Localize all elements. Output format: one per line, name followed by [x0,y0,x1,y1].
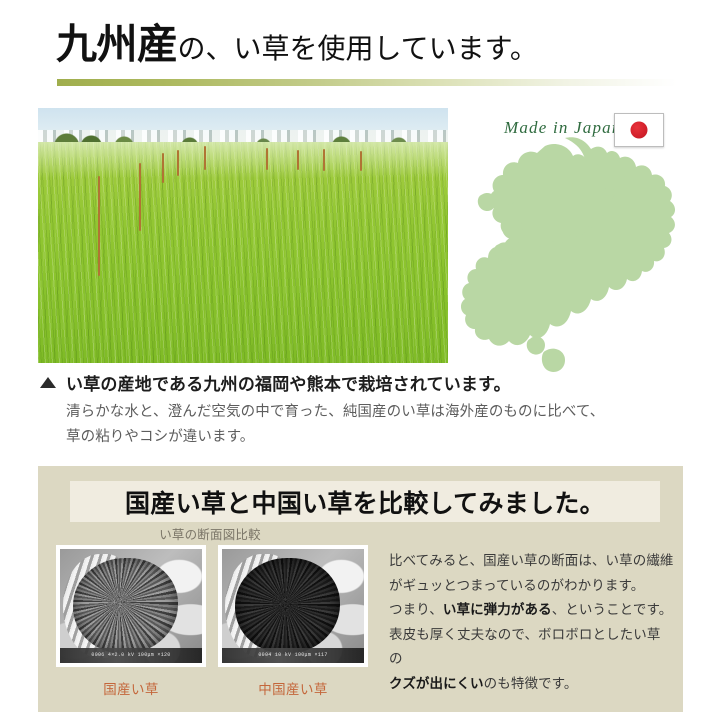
field-stake [177,150,179,176]
page-title-lead: 九州産 [56,21,178,67]
kyushu-map-icon [455,132,690,384]
micrograph-domestic-caption: 国産い草 [56,678,206,698]
line3-emphasis: い草に弾力がある [443,602,552,617]
field-stake [360,151,362,171]
field-stake [162,153,164,183]
comparison-body: 比べてみると、国産い草の断面は、い草の繊維 がギュッとつまっているのがわかります… [389,549,674,696]
page-title-rest: の、い草を使用しています。 [178,34,538,65]
photo-horizon-haze [38,142,448,178]
comparison-sublabel: い草の断面図比較 [60,524,360,543]
micrograph-domestic-image: 0006 4×2.0 kV 100μm ×120 [60,549,202,663]
micrograph-chinese-caption: 中国産い草 [218,678,368,698]
comparison-body-line-1: 比べてみると、国産い草の断面は、い草の繊維 [389,549,674,574]
micrograph-core [73,558,178,654]
page-title: 九州産の、い草を使用しています。 [56,24,538,65]
line5-post: のも特徴です。 [484,676,578,691]
micrograph-scalebar: 0006 4×2.0 kV 100μm ×120 [60,648,202,663]
field-stake [98,176,100,276]
igusa-field-photo [38,108,448,363]
line5-emphasis: クズが出にくい [389,676,484,691]
caption-body-line-2: 草の粘りやコシが違います。 [66,425,651,450]
comparison-body-line-4: 表皮も厚く丈夫なので、ボロボロとしたい草の [389,623,674,672]
micrograph-domestic: 0006 4×2.0 kV 100μm ×120 [56,545,206,667]
micrograph-scalebar: 0004 10 kV 100μm ×117 [222,648,364,663]
comparison-body-line-3: つまり、い草に弾力がある、ということです。 [389,598,674,623]
caption-body: 清らかな水と、澄んだ空気の中で育った、純国産のい草は海外産のものに比べて、 草の… [66,400,651,450]
caption-body-line-1: 清らかな水と、澄んだ空気の中で育った、純国産のい草は海外産のものに比べて、 [66,400,651,425]
product-description-page: 九州産の、い草を使用しています。 Made in Japan [0,0,720,720]
micrograph-core [235,558,340,654]
line3-post: 、ということです。 [552,602,673,617]
comparison-body-line-5: クズが出にくいのも特徴です。 [389,672,674,697]
field-stake [266,148,268,170]
caption-triangle-icon [40,377,56,388]
micrograph-chinese: 0004 10 kV 100μm ×117 [218,545,368,667]
title-underline-gradient [57,79,677,86]
field-stake [139,163,141,231]
comparison-heading: 国産い草と中国い草を比較してみました。 [70,481,660,522]
micrograph-chinese-image: 0004 10 kV 100μm ×117 [222,549,364,663]
field-stake [297,150,299,170]
comparison-body-line-2: がギュッとつまっているのがわかります。 [389,574,674,599]
field-stake [204,146,206,170]
caption-headline: い草の産地である九州の福岡や熊本で栽培されています。 [66,370,511,395]
line3-pre: つまり、 [389,602,443,617]
comparison-heading-band: 国産い草と中国い草を比較してみました。 [70,481,660,522]
field-stake [323,149,325,171]
